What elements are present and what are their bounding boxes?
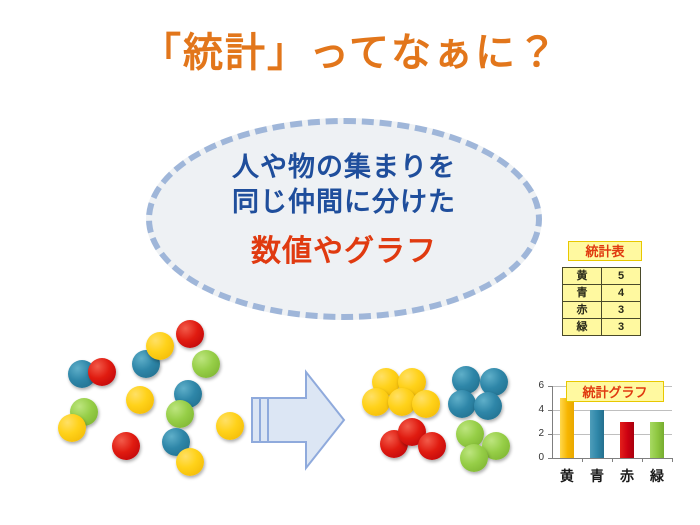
chart-y-tick-label: 4 (530, 404, 544, 415)
table-row: 緑3 (563, 319, 641, 336)
grouped-disc-red (418, 432, 446, 460)
scatter-disc-red (88, 358, 116, 386)
table-row: 赤3 (563, 302, 641, 319)
right-arrow-icon (248, 368, 348, 472)
grouped-disc-blue (474, 392, 502, 420)
chart-x-tickmark (582, 458, 583, 462)
scatter-disc-green (192, 350, 220, 378)
table-cell-value: 4 (602, 285, 641, 302)
scatter-disc-yellow (126, 386, 154, 414)
chart-x-label: 青 (587, 466, 607, 486)
slide-canvas: 「統計」ってなぁに？ 人や物の集まりを 同じ仲間に分けた 数値やグラフ 統計表 … (0, 0, 700, 525)
scatter-disc-red (176, 320, 204, 348)
chart-title: 統計グラフ (566, 381, 664, 402)
scatter-disc-yellow (58, 414, 86, 442)
table-cell-value: 3 (602, 319, 641, 336)
chart-y-tick-label: 6 (530, 380, 544, 391)
stat-table: 黄5青4赤3緑3 (562, 267, 641, 336)
grouped-disc-yellow (362, 388, 390, 416)
chart-x-label: 緑 (647, 466, 667, 486)
table-cell-value: 5 (602, 268, 641, 285)
grouped-disc-yellow (412, 390, 440, 418)
callout-line-2: 同じ仲間に分けた (146, 185, 542, 220)
table-row: 青4 (563, 285, 641, 302)
table-cell-value: 3 (602, 302, 641, 319)
grouped-disc-green (460, 444, 488, 472)
table-cell-label: 赤 (563, 302, 602, 319)
chart-bar (590, 410, 604, 458)
page-title: 「統計」ってなぁに？ (0, 30, 700, 76)
scatter-disc-yellow (216, 412, 244, 440)
table-cell-label: 緑 (563, 319, 602, 336)
stat-table-title: 統計表 (568, 241, 642, 261)
chart-x-label: 黄 (557, 466, 577, 486)
chart-y-tick-label: 2 (530, 428, 544, 439)
table-row: 黄5 (563, 268, 641, 285)
callout-emphasis: 数値やグラフ (146, 232, 542, 271)
chart-bar (560, 398, 574, 458)
grouped-disc-blue (448, 390, 476, 418)
table-cell-label: 青 (563, 285, 602, 302)
callout-text-block: 人や物の集まりを 同じ仲間に分けた 数値やグラフ (146, 150, 542, 271)
callout-line-1: 人や物の集まりを (146, 150, 542, 185)
chart-x-tickmark (612, 458, 613, 462)
chart-x-tickmark (672, 458, 673, 462)
table-cell-label: 黄 (563, 268, 602, 285)
chart-bar (620, 422, 634, 458)
chart-x-tickmark (642, 458, 643, 462)
scatter-disc-yellow (146, 332, 174, 360)
chart-x-label: 赤 (617, 466, 637, 486)
chart-y-axis (552, 386, 553, 458)
scatter-disc-green (166, 400, 194, 428)
scatter-disc-red (112, 432, 140, 460)
chart-bar (650, 422, 664, 458)
scatter-disc-yellow (176, 448, 204, 476)
chart-y-tick-label: 0 (530, 452, 544, 463)
